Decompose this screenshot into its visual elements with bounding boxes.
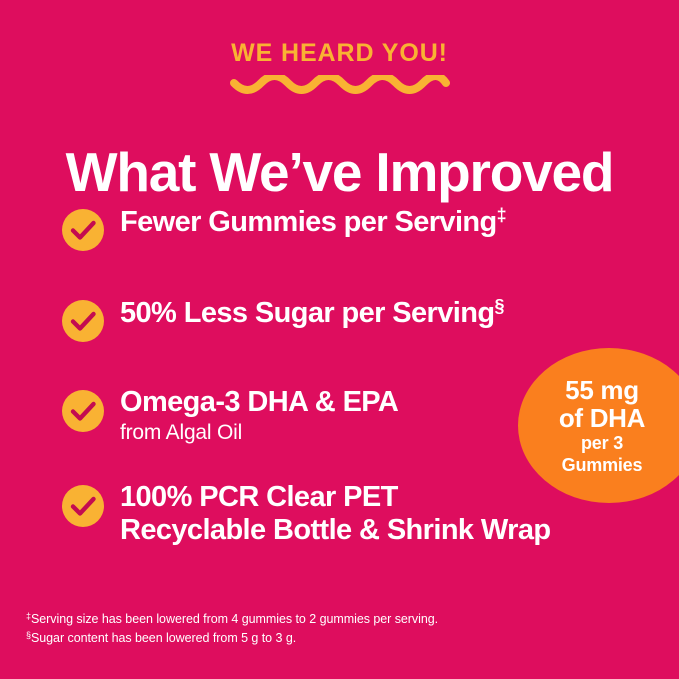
benefit-title: 50% Less Sugar per Serving§ [120,296,662,329]
benefit-title: Omega-3 DHA & EPA [120,386,662,418]
check-circle-icon [62,300,104,342]
benefit-title-line2: Recyclable Bottle & Shrink Wrap [120,514,662,546]
footnote-marker: ‡ [497,205,506,225]
benefits-list: Fewer Gummies per Serving‡ 50% Less Suga… [62,205,662,547]
benefit-title: Fewer Gummies per Serving‡ [120,205,662,238]
footnote-marker: § [494,296,503,316]
page-title: What We’ve Improved [0,143,679,202]
promo-poster: WE HEARD YOU! What We’ve Improved 55 mg … [0,0,679,679]
check-circle-icon [62,485,104,527]
footnote-sugar-content: §Sugar content has been lowered from 5 g… [26,629,646,648]
footnote-serving-size: ‡Serving size has been lowered from 4 gu… [26,610,646,629]
benefit-item-fewer-gummies: Fewer Gummies per Serving‡ [62,205,662,253]
check-circle-icon [62,209,104,251]
check-circle-icon [62,390,104,432]
eyebrow-text: WE HEARD YOU! [0,40,679,68]
eyebrow-block: WE HEARD YOU! [0,40,679,99]
benefit-title: 100% PCR Clear PET [120,481,662,513]
benefit-item-omega-3: Omega-3 DHA & EPA from Algal Oil [62,386,662,446]
benefit-item-pcr-packaging: 100% PCR Clear PET Recyclable Bottle & S… [62,481,662,547]
wavy-underline-icon [230,75,450,99]
footnotes-block: ‡Serving size has been lowered from 4 gu… [26,610,646,649]
benefit-item-less-sugar: 50% Less Sugar per Serving§ [62,296,662,344]
benefit-subtitle: from Algal Oil [120,420,662,445]
